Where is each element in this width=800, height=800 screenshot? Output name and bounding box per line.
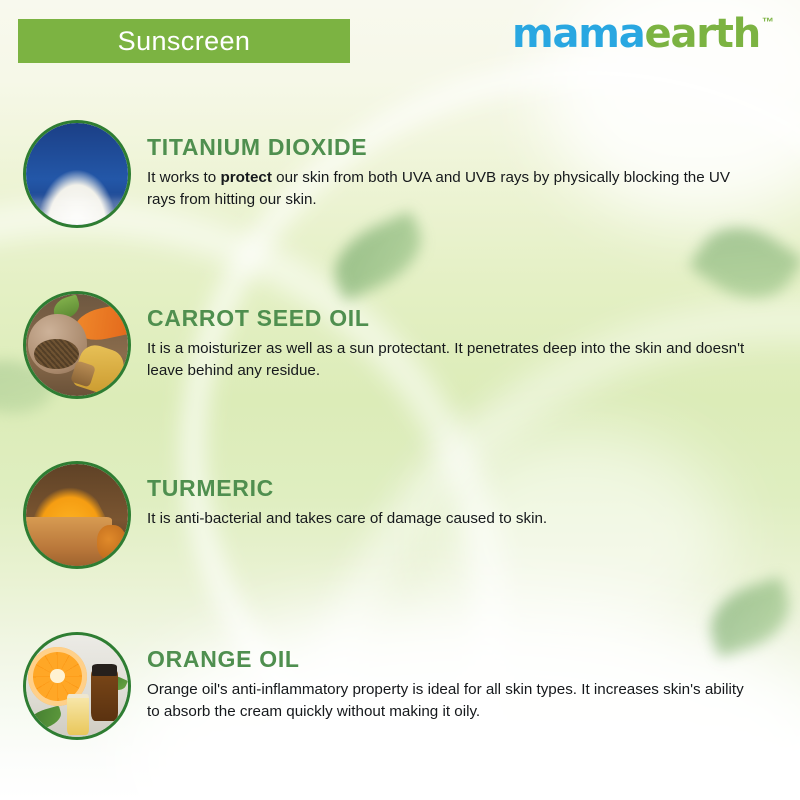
ingredient-description: It works to protect our skin from both U… [147,167,759,210]
desc-bold-part: protect [220,169,271,186]
ingredient-row-carrot-seed-oil: CARROT SEED OIL It is a moisturizer as w… [0,291,800,399]
sunscreen-ingredients-poster: Sunscreen mama earth ™ TITANIUM DIOXIDE … [0,0,800,800]
poster-header: Sunscreen mama earth ™ [0,0,800,80]
ingredient-title: TURMERIC [147,475,762,502]
brand-logo-mama: mama [512,14,645,54]
category-banner-label: Sunscreen [118,26,251,57]
ingredient-text-block: ORANGE OIL Orange oil's anti-inflammator… [147,632,800,722]
ingredient-row-orange-oil: ORANGE OIL Orange oil's anti-inflammator… [0,632,800,740]
ingredient-title: ORANGE OIL [147,646,762,673]
ingredient-thumbnail [23,461,131,569]
orange-oil-photo [26,635,128,737]
desc-part: It works to [147,169,220,186]
desc-part: It is anti-bacterial and takes care of d… [147,510,547,527]
ingredient-row-titanium-dioxide: TITANIUM DIOXIDE It works to protect our… [0,120,800,228]
ingredient-row-turmeric: TURMERIC It is anti-bacterial and takes … [0,461,800,569]
ingredient-description: It is anti-bacterial and takes care of d… [147,508,759,530]
ingredient-text-block: TURMERIC It is anti-bacterial and takes … [147,461,800,530]
turmeric-powder-photo [26,464,128,566]
ingredient-thumbnail [23,291,131,399]
desc-part: It is a moisturizer as well as a sun pro… [147,340,744,379]
carrot-seed-oil-photo [26,294,128,396]
titanium-dioxide-powder-photo [26,123,128,225]
ingredient-description: Orange oil's anti-inflammatory property … [147,679,759,722]
ingredient-thumbnail [23,120,131,228]
ingredient-text-block: CARROT SEED OIL It is a moisturizer as w… [147,291,800,381]
ingredient-title: CARROT SEED OIL [147,305,762,332]
trademark-icon: ™ [762,16,774,28]
ingredient-description: It is a moisturizer as well as a sun pro… [147,338,759,381]
ingredient-title: TITANIUM DIOXIDE [147,134,762,161]
brand-logo-earth: earth [645,14,760,54]
desc-part: Orange oil's anti-inflammatory property … [147,681,744,720]
category-banner: Sunscreen [18,19,350,63]
brand-logo: mama earth ™ [512,14,774,54]
ingredient-text-block: TITANIUM DIOXIDE It works to protect our… [147,120,800,210]
ingredient-thumbnail [23,632,131,740]
